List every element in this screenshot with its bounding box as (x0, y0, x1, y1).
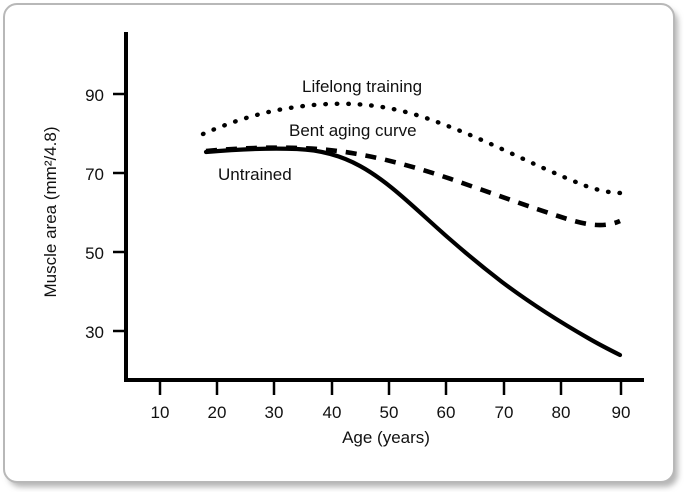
y-ticklabel-70: 70 (85, 165, 104, 184)
x-ticklabel-30: 30 (265, 403, 284, 422)
curve-bent-aging (206, 148, 620, 225)
x-ticklabel-80: 80 (552, 403, 571, 422)
y-ticklabel-90: 90 (85, 86, 104, 105)
x-ticklabel-20: 20 (208, 403, 227, 422)
chart-svg: 90 70 50 30 10 20 30 40 (0, 0, 684, 492)
x-axis-title: Age (years) (342, 428, 430, 447)
x-ticklabel-10: 10 (151, 403, 170, 422)
chart-plot-area: 90 70 50 30 10 20 30 40 (0, 0, 684, 492)
y-tick-labels: 90 70 50 30 (85, 86, 104, 342)
annotation-untrained: Untrained (218, 165, 292, 184)
y-axis-title: Muscle area (mm²/4.8) (41, 127, 60, 298)
x-ticklabel-90: 90 (612, 403, 631, 422)
x-ticklabel-60: 60 (437, 403, 456, 422)
x-tick-labels: 10 20 30 40 50 60 70 80 90 (151, 403, 631, 422)
x-ticklabel-50: 50 (380, 403, 399, 422)
x-ticklabel-70: 70 (495, 403, 514, 422)
x-tick-marks (160, 382, 621, 395)
figure-frame: 90 70 50 30 10 20 30 40 (0, 0, 684, 492)
y-ticklabel-50: 50 (85, 244, 104, 263)
annotation-lifelong-training: Lifelong training (302, 77, 422, 96)
series-annotations: Lifelong training Bent aging curve Untra… (218, 77, 422, 184)
x-ticklabel-40: 40 (323, 403, 342, 422)
y-ticklabel-30: 30 (85, 323, 104, 342)
annotation-bent-aging-curve: Bent aging curve (289, 121, 417, 140)
series-curves (203, 104, 622, 355)
